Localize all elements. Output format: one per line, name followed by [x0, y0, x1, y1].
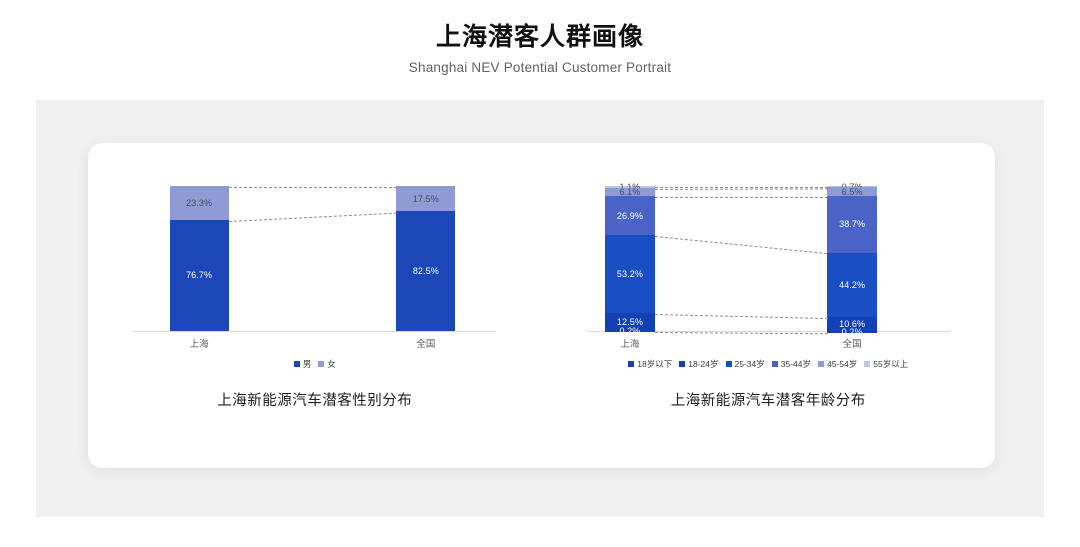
legend-item[interactable]: 男	[294, 358, 312, 370]
age-legend: 18岁以下18-24岁25-34岁35-44岁45-54岁55岁以上	[542, 358, 996, 370]
category-tick-label: 全国	[416, 336, 435, 350]
bar-segment: 38.7%	[827, 196, 877, 252]
segment-connector-line	[229, 187, 397, 188]
segment-value-label: 6.5%	[842, 187, 863, 197]
gender-chart-caption: 上海新能源汽车潜客性别分布	[88, 389, 542, 410]
age-chart-caption: 上海新能源汽车潜客年龄分布	[542, 389, 996, 410]
stacked-bar: 1.1%6.1%26.9%53.2%12.5%0.2%上海	[605, 186, 655, 331]
legend-label: 25-34岁	[735, 358, 765, 370]
age-axis-line	[587, 331, 950, 332]
legend-swatch	[679, 361, 685, 367]
gender-axis-line	[133, 331, 496, 332]
bar-segment: 53.2%	[605, 235, 655, 312]
bar-segment: 26.9%	[605, 196, 655, 235]
legend-label: 45-54岁	[827, 358, 857, 370]
segment-connector-line	[655, 314, 828, 319]
legend-swatch	[772, 361, 778, 367]
page-subtitle: Shanghai NEV Potential Customer Portrait	[0, 58, 1080, 78]
charts-card: 23.3%76.7%上海17.5%82.5%全国 男女 上海新能源汽车潜客性别分…	[88, 143, 995, 468]
legend-label: 女	[327, 358, 336, 370]
bar-segment: 17.5%	[396, 186, 455, 211]
segment-value-label: 26.9%	[617, 211, 643, 221]
age-plot-area: 1.1%6.1%26.9%53.2%12.5%0.2%上海0.7%6.5%38.…	[542, 187, 996, 332]
page-header: 上海潜客人群画像 Shanghai NEV Potential Customer…	[0, 0, 1080, 78]
legend-item[interactable]: 18-24岁	[679, 358, 718, 370]
bar-segment: 44.2%	[827, 253, 877, 317]
legend-label: 男	[303, 358, 312, 370]
legend-swatch	[864, 361, 870, 367]
stacked-bar: 0.7%6.5%38.7%44.2%10.6%0.2%全国	[827, 186, 877, 331]
segment-connector-line	[655, 332, 828, 334]
segment-connector-line	[655, 188, 828, 190]
bar-segment: 6.1%	[605, 188, 655, 197]
stacked-bar: 23.3%76.7%上海	[170, 186, 229, 331]
bar-segment: 76.7%	[170, 220, 229, 331]
segment-value-label: 76.7%	[186, 270, 212, 280]
bar-segment: 82.5%	[396, 211, 455, 331]
category-tick-label: 上海	[620, 336, 639, 350]
stacked-bar: 17.5%82.5%全国	[396, 186, 455, 331]
segment-value-label: 44.2%	[839, 280, 865, 290]
gender-plot-area: 23.3%76.7%上海17.5%82.5%全国	[88, 187, 542, 332]
charts-row: 23.3%76.7%上海17.5%82.5%全国 男女 上海新能源汽车潜客性别分…	[88, 143, 995, 468]
content-panel: 23.3%76.7%上海17.5%82.5%全国 男女 上海新能源汽车潜客性别分…	[36, 100, 1044, 517]
legend-item[interactable]: 女	[318, 358, 336, 370]
legend-item[interactable]: 18岁以下	[628, 358, 672, 370]
legend-swatch	[818, 361, 824, 367]
gender-chart-cell: 23.3%76.7%上海17.5%82.5%全国 男女 上海新能源汽车潜客性别分…	[88, 143, 542, 468]
legend-item[interactable]: 45-54岁	[818, 358, 857, 370]
legend-item[interactable]: 25-34岁	[726, 358, 765, 370]
segment-connector-line	[655, 236, 828, 254]
segment-connector-line	[229, 212, 397, 221]
legend-label: 55岁以上	[873, 358, 908, 370]
category-tick-label: 全国	[843, 336, 862, 350]
segment-value-label: 17.5%	[413, 194, 439, 204]
bar-segment: 23.3%	[170, 186, 229, 220]
legend-label: 18-24岁	[688, 358, 718, 370]
segment-value-label: 0.2%	[619, 326, 640, 336]
bar-segment: 6.5%	[827, 187, 877, 196]
legend-swatch	[726, 361, 732, 367]
category-tick-label: 上海	[190, 336, 209, 350]
legend-swatch	[318, 361, 324, 367]
segment-value-label: 53.2%	[617, 269, 643, 279]
gender-legend: 男女	[88, 358, 542, 370]
age-chart-cell: 1.1%6.1%26.9%53.2%12.5%0.2%上海0.7%6.5%38.…	[542, 143, 996, 468]
page-title: 上海潜客人群画像	[0, 22, 1080, 52]
segment-connector-line	[655, 187, 828, 188]
legend-swatch	[628, 361, 634, 367]
legend-swatch	[294, 361, 300, 367]
segment-value-label: 82.5%	[413, 266, 439, 276]
legend-label: 35-44岁	[781, 358, 811, 370]
legend-item[interactable]: 35-44岁	[772, 358, 811, 370]
segment-connector-line	[655, 197, 828, 198]
legend-item[interactable]: 55岁以上	[864, 358, 908, 370]
legend-label: 18岁以下	[637, 358, 672, 370]
segment-value-label: 38.7%	[839, 219, 865, 229]
segment-value-label: 23.3%	[186, 198, 212, 208]
